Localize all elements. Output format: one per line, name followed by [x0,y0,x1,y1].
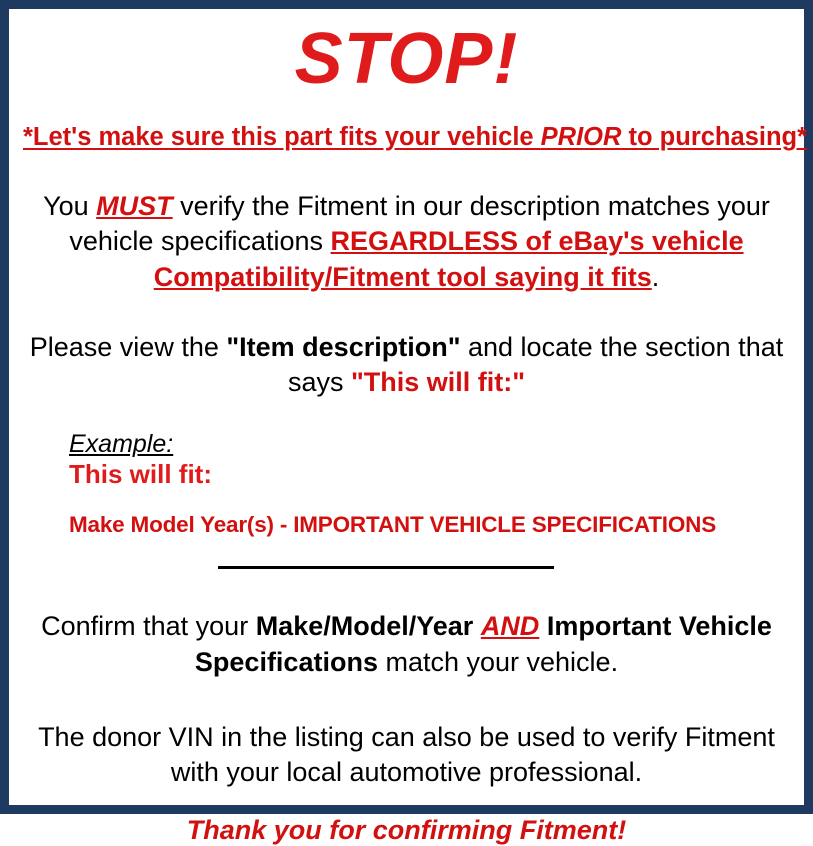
tagline: *Let's make sure this part fits your veh… [23,123,790,152]
example-spec-line: Make Model Year(s) - IMPORTANT VEHICLE S… [69,511,790,538]
section-divider [218,566,554,569]
view-text-1: Please view the [30,332,227,362]
fitment-notice-card: STOP! *Let's make sure this part fits yo… [0,0,813,814]
example-block: Example: This will fit: Make Model Year(… [23,430,790,539]
this-will-fit-emphasis: "This will fit:" [351,367,525,397]
tagline-text-after: to purchasing* [621,123,807,151]
page-title: STOP! [23,23,790,95]
must-paragraph: You MUST verify the Fitment in our descr… [23,189,790,294]
tagline-text-before: *Let's make sure this part fits your veh… [23,123,541,151]
make-model-year-emphasis: Make/Model/Year [256,611,474,641]
must-text-1: You [43,191,96,221]
must-emphasis: MUST [96,191,173,221]
and-emphasis: AND [481,611,540,641]
must-text-3: . [652,262,660,292]
tagline-emphasis-prior: PRIOR [541,123,622,151]
thanks-line: Thank you for confirming Fitment! [23,814,790,846]
confirm-space-2 [539,611,547,641]
item-description-emphasis: "Item description" [226,332,460,362]
confirm-space-1 [473,611,481,641]
example-label: Example: [69,430,790,458]
vin-paragraph: The donor VIN in the listing can also be… [23,720,790,790]
notice-content: STOP! *Let's make sure this part fits yo… [23,23,790,819]
confirm-text-2: match your vehicle. [378,647,618,677]
confirm-text-1: Confirm that your [41,611,256,641]
example-fit-heading: This will fit: [69,459,790,490]
confirm-paragraph: Confirm that your Make/Model/Year AND Im… [23,609,790,679]
view-paragraph: Please view the "Item description" and l… [23,330,790,400]
divider-wrapper [23,561,790,573]
